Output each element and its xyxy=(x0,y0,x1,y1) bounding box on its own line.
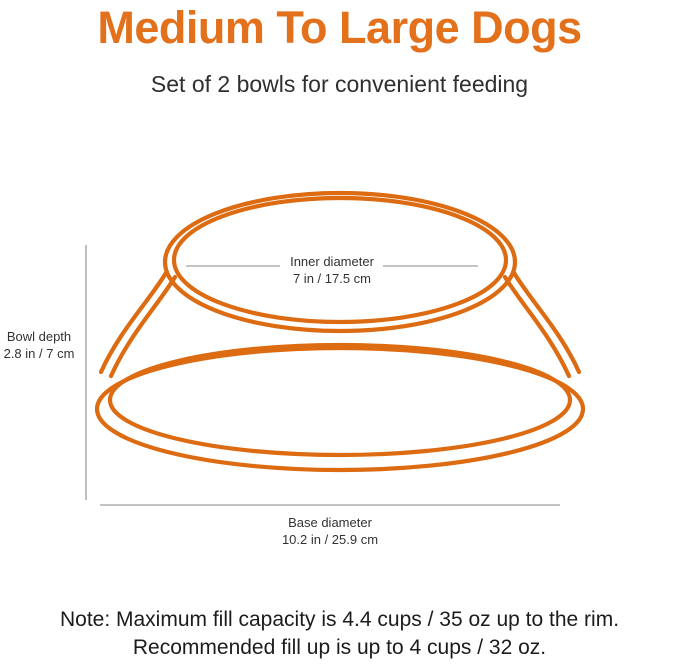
bowl-side-left xyxy=(101,272,167,372)
inner-diameter-label-value: 7 in / 17.5 cm xyxy=(232,270,432,287)
bowl-depth-label: Bowl depth 2.8 in / 7 cm xyxy=(0,328,78,362)
bowl-illustration-svg xyxy=(0,0,679,668)
base-diameter-label-name: Base diameter xyxy=(230,514,430,531)
bowl-depth-label-value: 2.8 in / 7 cm xyxy=(0,345,78,362)
bowl-side-right xyxy=(514,272,580,372)
bowl-outline-group xyxy=(97,193,583,470)
bowl-depth-label-name: Bowl depth xyxy=(0,328,78,345)
note-line-1: Note: Maximum fill capacity is 4.4 cups … xyxy=(0,606,679,634)
bowl-side-right-inner xyxy=(505,277,569,376)
bowl-diagram xyxy=(0,0,679,668)
inner-diameter-label: Inner diameter 7 in / 17.5 cm xyxy=(232,253,432,287)
inner-diameter-label-name: Inner diameter xyxy=(232,253,432,270)
note-line-2: Recommended fill up is up to 4 cups / 32… xyxy=(0,634,679,662)
base-inner-ellipse xyxy=(110,345,570,455)
base-diameter-label-value: 10.2 in / 25.9 cm xyxy=(230,531,430,548)
base-outer-ellipse xyxy=(97,348,583,470)
product-dimension-infographic: Medium To Large Dogs Set of 2 bowls for … xyxy=(0,0,679,668)
bowl-side-left-inner xyxy=(111,277,175,376)
base-diameter-label: Base diameter 10.2 in / 25.9 cm xyxy=(230,514,430,548)
fill-capacity-note: Note: Maximum fill capacity is 4.4 cups … xyxy=(0,606,679,662)
